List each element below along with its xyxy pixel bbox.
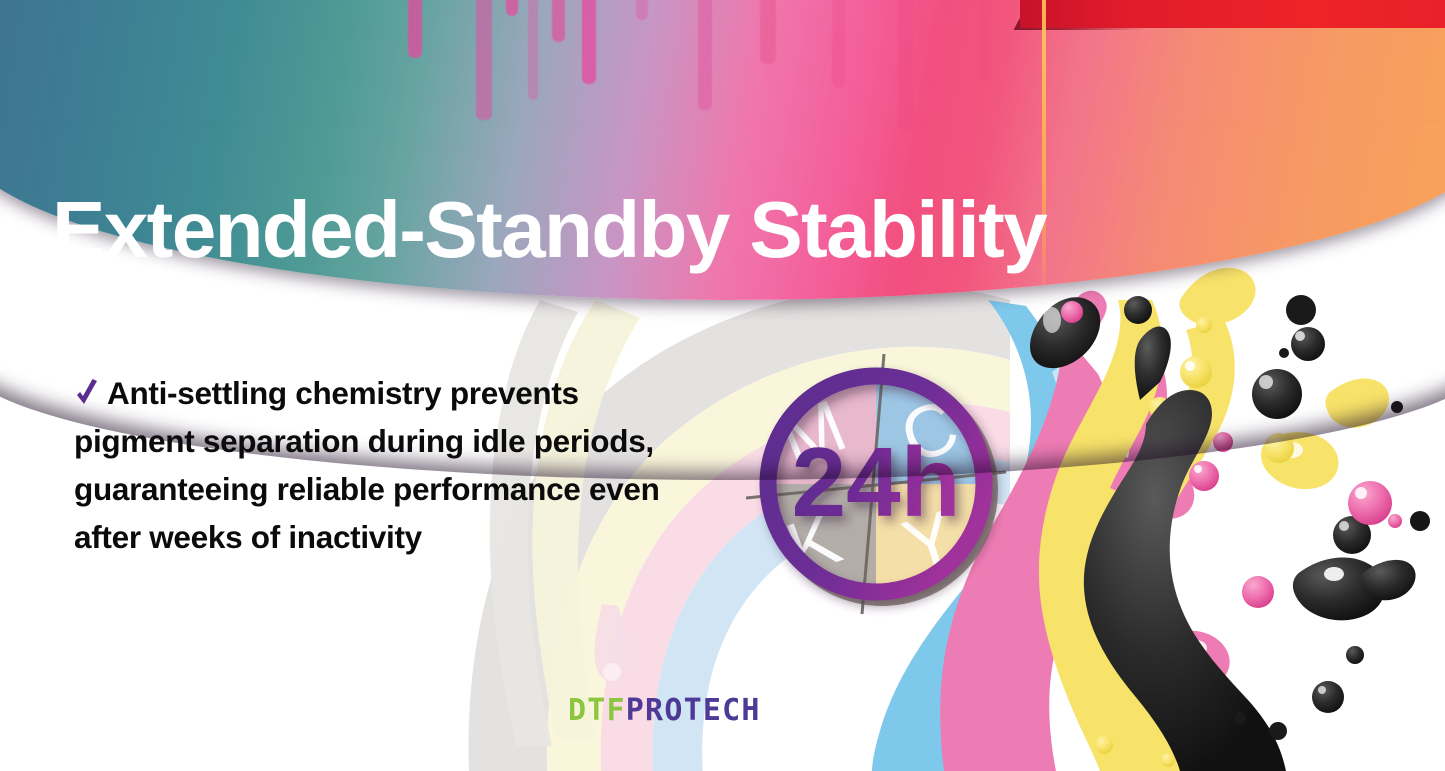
- page-title: Extended-Standby Stability: [52, 190, 1412, 270]
- header-drip-3: [476, 0, 492, 120]
- splash-yellow-arm2: [1326, 378, 1389, 427]
- splash-yellow-dot-5: [1196, 317, 1212, 333]
- splash-yellow-dot-2: [1149, 397, 1171, 419]
- splash-magenta-dot-3: [1242, 576, 1274, 608]
- badge-24h: M C K Y 24h: [740, 348, 1012, 620]
- header-drip-1: [408, 0, 422, 58]
- splash-black-arm-right: [1293, 557, 1385, 620]
- header-drip-7: [582, 0, 596, 84]
- header-drip-19: [978, 0, 991, 80]
- splash-black-stream: [1084, 390, 1286, 771]
- splash-magenta-dot-4: [1348, 481, 1392, 525]
- splash-black-top-gloss: [1043, 307, 1061, 333]
- header-drip-13: [760, 0, 776, 64]
- splash-magenta-dot-6: [1061, 301, 1083, 323]
- header-drip-15: [832, 0, 845, 88]
- splash-magenta-dot-5: [1388, 514, 1402, 528]
- poster-canvas: M C K Y 24h: [0, 0, 1445, 771]
- splash-yellow-dot-6: [1095, 736, 1113, 754]
- header-drip-18: [940, 0, 951, 20]
- splash-black-top-blob: [1030, 297, 1100, 368]
- splash-magenta-bulb: [1123, 460, 1195, 519]
- brand-logo: DTFPROTECH: [568, 693, 761, 728]
- splash-yellow-dot-7: [1161, 753, 1175, 767]
- feature-description: Anti-settling chemistry prevents pigment…: [74, 370, 694, 562]
- splash-black-dot-1: [1291, 327, 1325, 361]
- splash-black-dot-9: [1312, 681, 1344, 713]
- splash-black-dot-4: [1410, 511, 1430, 531]
- header-drip-6: [552, 0, 565, 42]
- header-drip-9: [636, 0, 648, 20]
- splash-black-dot-3-gloss: [1339, 521, 1349, 531]
- splash-yellow-stream: [1039, 300, 1235, 771]
- splash-cyan-highlight: [1052, 366, 1077, 452]
- splash-yellow-gloss: [1281, 442, 1303, 458]
- splash-black-dot-2: [1252, 369, 1302, 419]
- splash-magenta-tongue: [1155, 631, 1230, 687]
- splash-magenta-dot-1: [1213, 432, 1233, 452]
- header-drip-17: [898, 0, 913, 130]
- splash-magenta-gloss: [1140, 471, 1160, 485]
- brand-logo-dtf: DTF: [568, 693, 626, 728]
- splash-black-finger: [1135, 326, 1171, 400]
- splash-black-dot-11: [1269, 722, 1287, 740]
- splash-magenta-dot-2-gloss: [1194, 465, 1202, 473]
- splash-black-dot-10: [1234, 712, 1246, 724]
- check-icon: [74, 375, 100, 405]
- splash-black-dot-9-gloss: [1318, 686, 1326, 694]
- feature-description-text: Anti-settling chemistry prevents pigment…: [74, 375, 660, 555]
- brand-logo-protech: PROTECH: [626, 693, 761, 728]
- splash-black-dot-6: [1391, 401, 1403, 413]
- badge-label: 24h: [792, 427, 961, 537]
- header-accent-band: [1020, 0, 1445, 28]
- header-drip-5: [528, 0, 538, 100]
- splash-black-arm-tip: [1361, 560, 1416, 600]
- splash-magenta-dot-4-gloss: [1355, 487, 1367, 499]
- swirl-drip-bead: [603, 663, 621, 681]
- splash-yellow-dot-3: [1266, 372, 1292, 398]
- splash-magenta-tongue-gloss: [1185, 640, 1207, 656]
- splash-yellow-dot-1-gloss: [1185, 361, 1195, 371]
- splash-yellow-arm: [1261, 432, 1339, 489]
- swirl-drip-blob: [594, 604, 628, 682]
- splash-black-arm-gloss: [1324, 567, 1344, 581]
- splash-black-dot-8: [1346, 646, 1364, 664]
- splash-black-dot-3: [1333, 516, 1371, 554]
- splash-magenta-dot-2: [1189, 461, 1219, 491]
- splash-yellow-dot-1: [1180, 356, 1212, 388]
- splash-yellow-dot-4: [1264, 433, 1294, 463]
- splash-cyan-droplet-arc: [1090, 552, 1116, 613]
- splash-black-dot-2-gloss: [1259, 375, 1273, 389]
- splash-black-dot-7: [1279, 348, 1289, 358]
- splash-black-dot-12: [1124, 296, 1152, 324]
- header-drip-4: [506, 0, 518, 16]
- header-drip-11: [698, 0, 712, 110]
- splash-black-dot-1-gloss: [1295, 331, 1305, 341]
